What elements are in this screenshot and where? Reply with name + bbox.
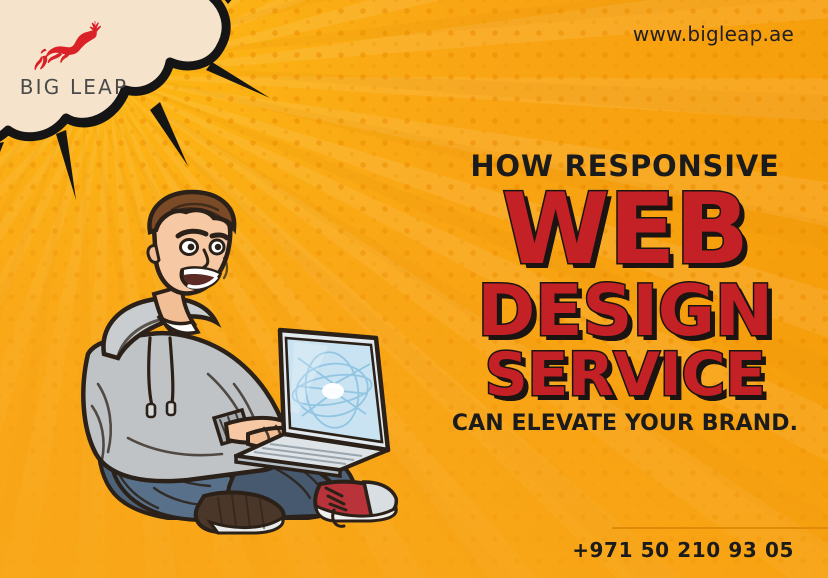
headline-word-design: DESIGN — [440, 279, 810, 343]
leaping-deer-icon — [31, 18, 117, 74]
website-url[interactable]: www.bigleap.ae — [633, 22, 794, 46]
promo-banner: BIG LEAP www.bigleap.ae .ln { fill:none;… — [0, 0, 828, 578]
headline-subline: CAN ELEVATE YOUR BRAND. — [440, 413, 810, 435]
brand-logo[interactable]: BIG LEAP — [8, 18, 140, 99]
headline-word-service: SERVICE — [440, 348, 810, 403]
footer-divider — [612, 527, 828, 529]
contact-phone-number[interactable]: +971 50 210 93 05 — [572, 538, 794, 562]
headline-word-web: WEB — [440, 185, 810, 275]
headline-block: HOW RESPONSIVE WEB DESIGN SERVICE CAN EL… — [440, 152, 810, 435]
logo-wordmark: BIG LEAP — [8, 75, 140, 99]
